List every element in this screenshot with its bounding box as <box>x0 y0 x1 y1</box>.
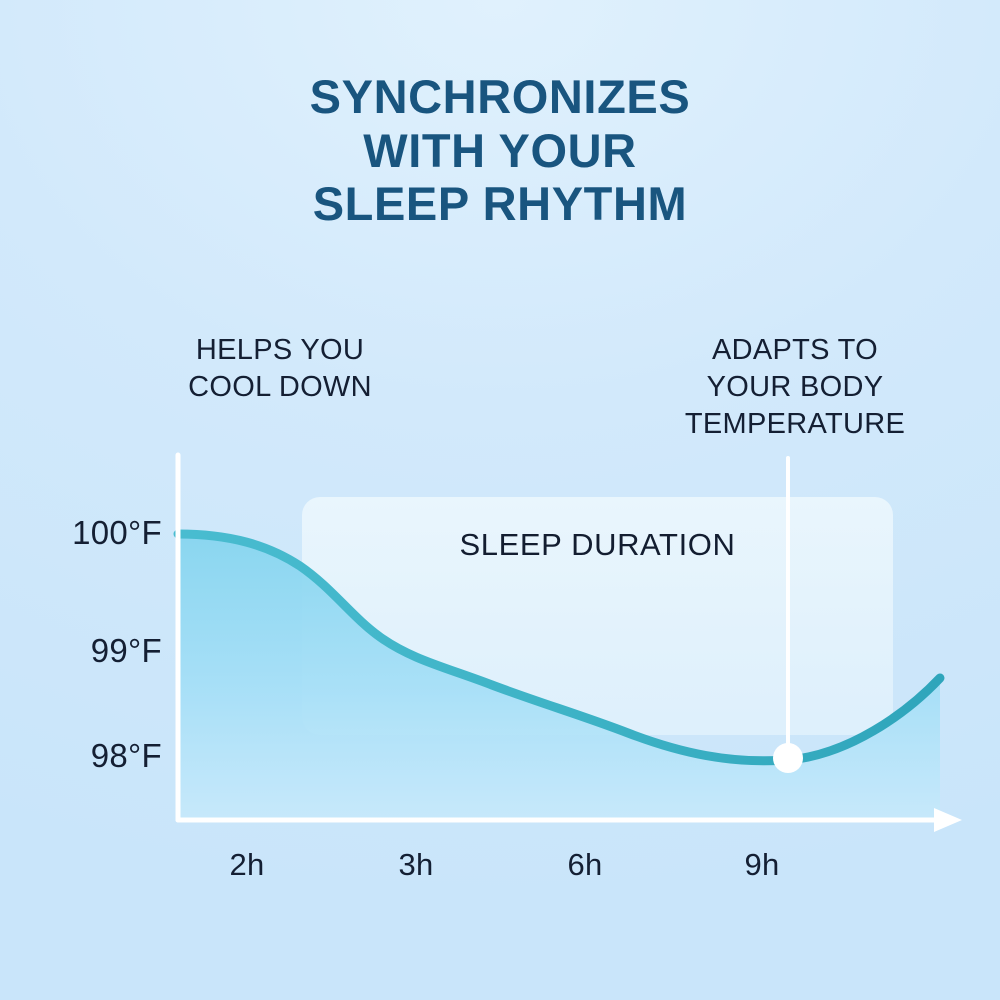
y-tick-label-98f: 98°F <box>91 737 162 775</box>
y-tick-label-100f: 100°F <box>72 514 162 552</box>
x-tick-label-6h: 6h <box>567 847 602 883</box>
caption-helps-you-cool-down: HELPS YOU COOL DOWN <box>120 332 440 406</box>
sleep-duration-label: SLEEP DURATION <box>302 527 893 563</box>
x-axis-arrow-icon <box>934 808 962 832</box>
caption-adapts-to-your-body-temperature: ADAPTS TO YOUR BODY TEMPERATURE <box>640 332 950 443</box>
caption-right-line-2: YOUR BODY <box>640 369 950 406</box>
caption-right-line-3: TEMPERATURE <box>640 406 950 443</box>
x-tick-label-2h: 2h <box>229 847 264 883</box>
temperature-chart <box>0 0 1000 1000</box>
infographic-canvas: SYNCHRONIZES WITH YOUR SLEEP RHYTHM <box>0 0 1000 1000</box>
low-point-marker[interactable] <box>773 743 803 773</box>
y-tick-label-99f: 99°F <box>91 632 162 670</box>
caption-left-line-2: COOL DOWN <box>120 369 440 406</box>
x-tick-label-9h: 9h <box>744 847 779 883</box>
x-tick-label-3h: 3h <box>398 847 433 883</box>
caption-right-line-1: ADAPTS TO <box>640 332 950 369</box>
caption-left-line-1: HELPS YOU <box>120 332 440 369</box>
